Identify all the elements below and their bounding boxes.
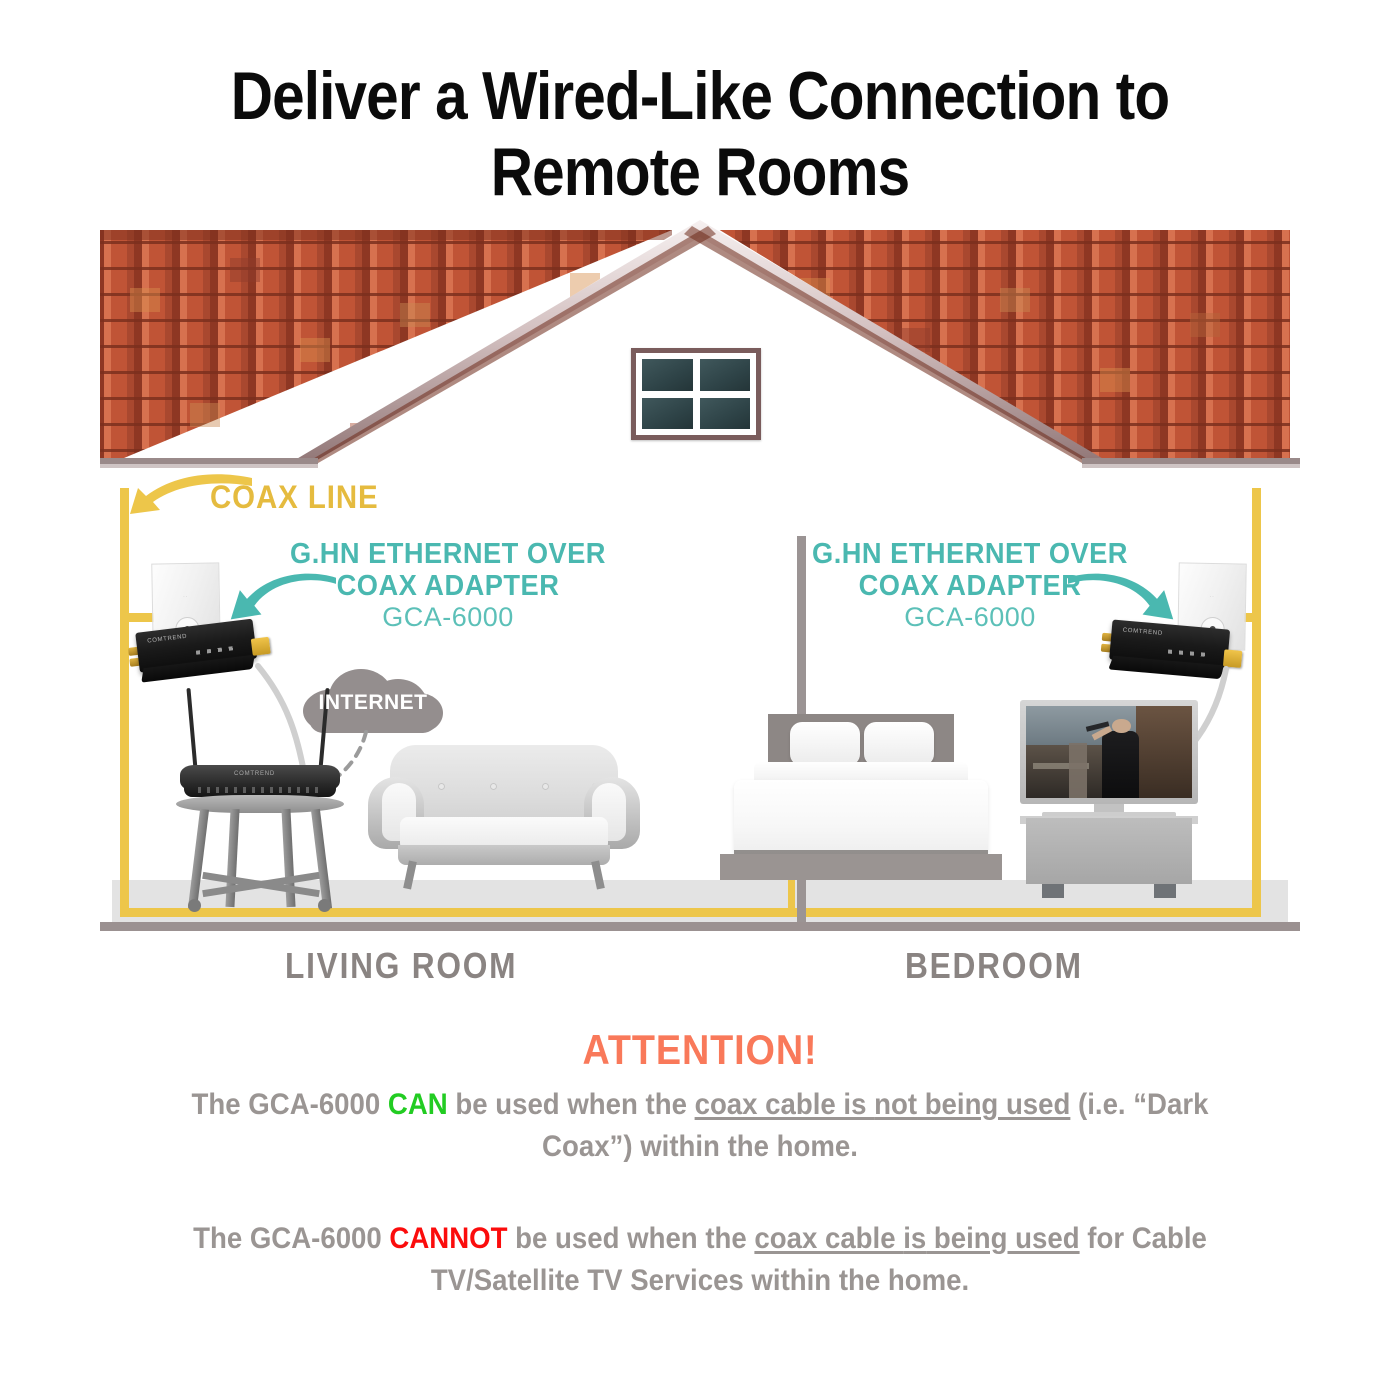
router-stool — [176, 795, 344, 917]
window-panes — [636, 353, 756, 435]
bed-pillow — [790, 722, 860, 766]
tv-scene-figure-head — [1112, 719, 1130, 733]
note1-part2: be used when the — [448, 1088, 695, 1121]
adapter-ethernet-port — [251, 637, 271, 656]
window-pane — [700, 359, 751, 391]
sofa-tuft-button — [438, 783, 445, 790]
note1-underline-bold: not — [874, 1088, 917, 1121]
note1-underline-2: being used — [917, 1088, 1070, 1121]
tv-stand-foot — [1042, 884, 1064, 898]
router-vent-grille — [198, 787, 318, 793]
adapter-brand-mark: COMTREND — [147, 634, 188, 645]
internet-cloud-label: INTERNET — [303, 691, 443, 715]
adapter-led-row — [196, 646, 238, 655]
bed-base — [720, 854, 1002, 880]
note2-underline-bold: is — [903, 1222, 926, 1255]
room-label-bedroom: BEDROOM — [905, 945, 1083, 987]
note1-part1: The GCA-6000 — [192, 1088, 388, 1121]
living-room-sofa — [368, 745, 640, 890]
attic-window — [631, 348, 761, 440]
tv-scene-wall — [1136, 706, 1192, 798]
bed-pillow — [864, 722, 934, 766]
router-brand-mark: COMTREND — [234, 771, 275, 777]
attention-note-cannot: The GCA-6000 CANNOT be used when the coa… — [166, 1218, 1233, 1302]
sofa-base — [398, 845, 610, 865]
room-label-living-room: LIVING ROOM — [285, 945, 517, 987]
adapter-brand-mark: COMTREND — [1122, 627, 1163, 636]
window-pane — [700, 398, 751, 430]
note2-part1: The GCA-6000 — [193, 1222, 389, 1255]
note1-can-keyword: CAN — [388, 1088, 448, 1121]
sofa-tuft-button — [542, 783, 549, 790]
note2-cannot-keyword: CANNOT — [389, 1222, 507, 1255]
bedroom-bed — [712, 714, 1010, 894]
note1-underline-1: coax cable is — [695, 1088, 875, 1121]
television — [1020, 700, 1198, 804]
stool-foot — [318, 899, 331, 912]
stool-foot — [188, 899, 201, 912]
infographic-canvas: Deliver a Wired-Like Connection to Remot… — [0, 0, 1400, 1400]
bedroom-tv-set — [1020, 700, 1198, 900]
tv-scene-pillar — [1069, 743, 1087, 798]
note2-underline-1: coax cable — [754, 1222, 903, 1255]
window-pane — [642, 359, 693, 391]
wall-plate-marking: .. — [153, 592, 219, 599]
window-pane — [642, 398, 693, 430]
adapter-led-row — [1168, 649, 1210, 657]
wall-plate-marking: .. — [1179, 592, 1245, 599]
tv-screen — [1026, 706, 1192, 798]
attention-heading: ATTENTION! — [70, 1026, 1330, 1074]
note2-part2: be used when the — [507, 1222, 754, 1255]
attention-note-can: The GCA-6000 CAN be used when the coax c… — [166, 1084, 1233, 1168]
page-title: Deliver a Wired-Like Connection to Remot… — [98, 58, 1302, 210]
tv-stand-body — [1026, 818, 1192, 884]
coax-line-left-vertical — [120, 488, 129, 916]
ground-baseline — [100, 922, 1300, 931]
tv-scene-figure-body — [1102, 731, 1139, 798]
note2-underline-2: being used — [926, 1222, 1079, 1255]
tv-stand-foot — [1154, 884, 1176, 898]
bed-duvet — [734, 780, 988, 858]
sofa-tuft-button — [490, 783, 497, 790]
coax-line-label: COAX LINE — [210, 479, 379, 516]
